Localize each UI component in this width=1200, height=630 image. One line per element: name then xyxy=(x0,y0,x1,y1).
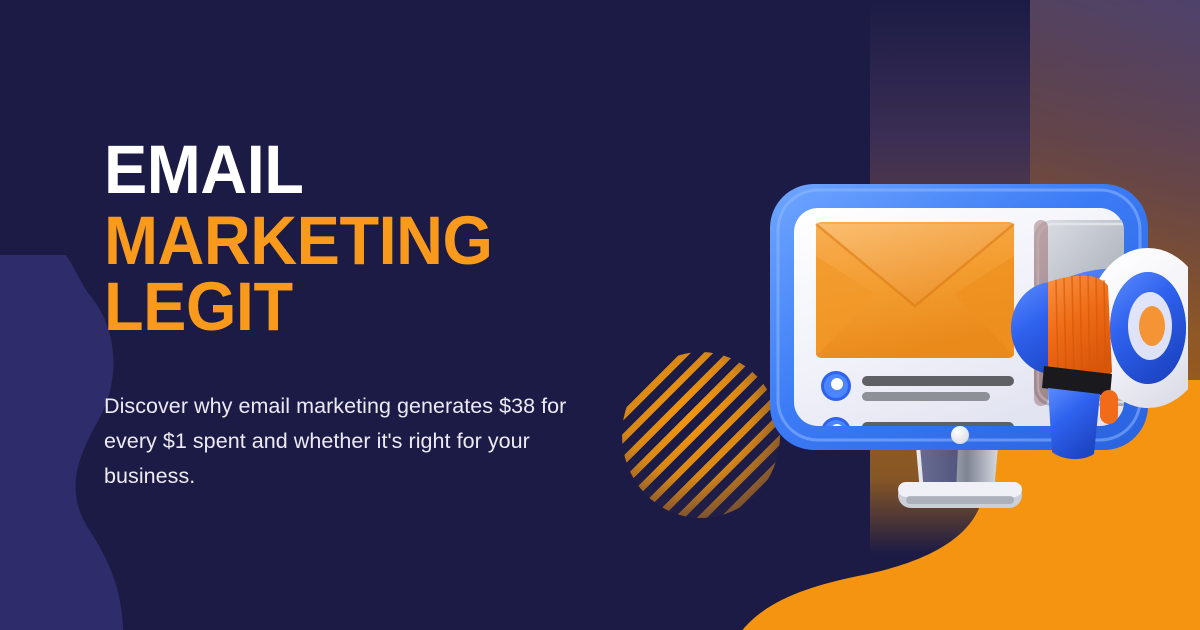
banner-canvas: EMAIL MARKETING LEGIT Discover why email… xyxy=(0,0,1200,630)
body-paragraph: Discover why email marketing generates $… xyxy=(104,389,604,493)
text-line-dark-1 xyxy=(862,376,1014,386)
email-marketing-illustration xyxy=(748,160,1188,560)
monitor-power-dot xyxy=(951,426,969,444)
headline-line-1: EMAIL xyxy=(104,138,593,202)
megaphone-trigger xyxy=(1100,390,1118,424)
megaphone-handle xyxy=(1048,388,1100,459)
headline-line-2: MARKETING xyxy=(104,209,593,273)
text-line-light-1 xyxy=(862,392,990,401)
megaphone-center xyxy=(1139,306,1165,346)
headline-line-3: LEGIT xyxy=(104,275,593,339)
envelope-icon xyxy=(816,222,1014,358)
text-block: EMAIL MARKETING LEGIT Discover why email… xyxy=(104,138,624,494)
monitor-stand xyxy=(898,446,1022,508)
